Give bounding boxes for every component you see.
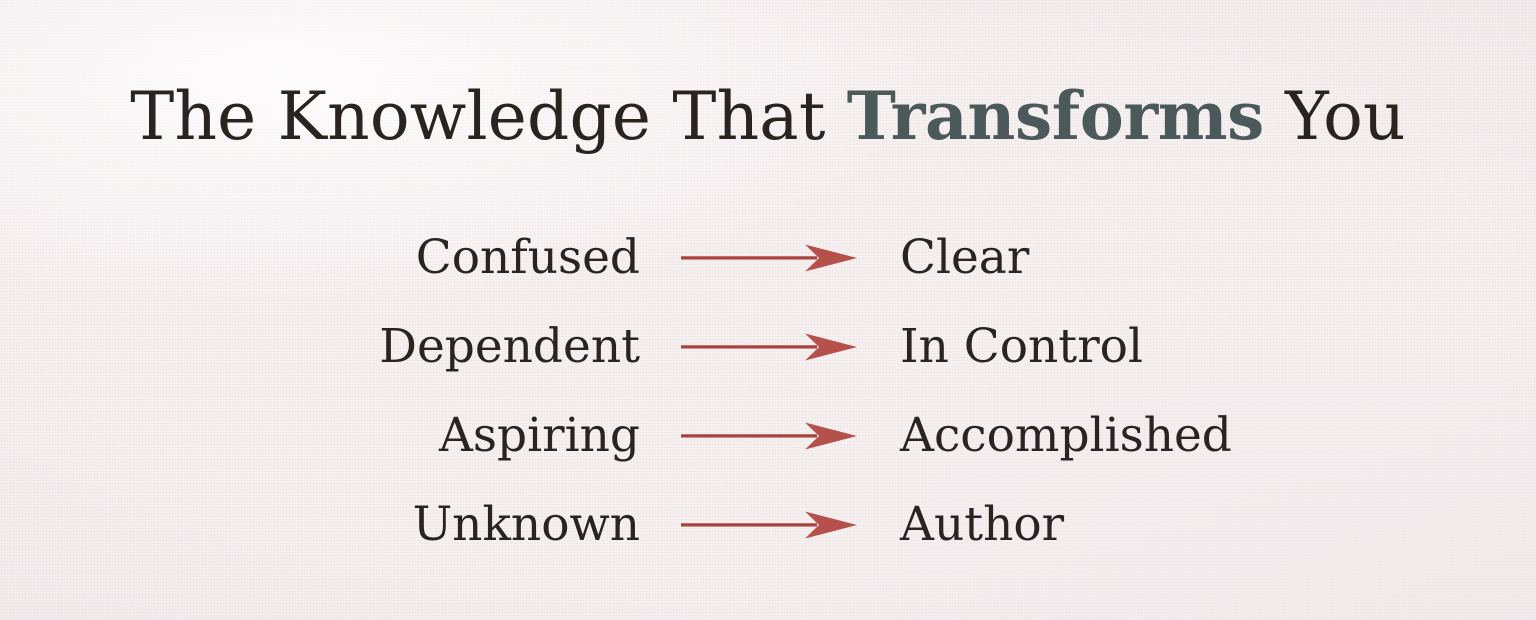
transition-from-label: Unknown (0, 501, 640, 548)
transition-row: Dependent In Control (0, 302, 1536, 391)
right-arrow-icon (681, 421, 859, 451)
transition-arrow (640, 421, 900, 451)
transition-arrow (640, 332, 900, 362)
title-text-after: You (1264, 78, 1406, 155)
transition-to-label: Clear (900, 234, 1536, 281)
right-arrow-icon (681, 510, 859, 540)
title-accent-word: Transforms (847, 77, 1264, 155)
transition-from-label: Dependent (0, 323, 640, 370)
transition-arrow (640, 243, 900, 273)
page-title: The Knowledge That Transforms You (0, 82, 1536, 152)
transition-row: Unknown Author (0, 480, 1536, 569)
transition-row: Confused Clear (0, 213, 1536, 302)
transition-arrow (640, 510, 900, 540)
title-text-before: The Knowledge That (130, 78, 847, 155)
transition-to-label: Accomplished (900, 412, 1536, 459)
right-arrow-icon (681, 243, 859, 273)
slide-canvas: The Knowledge That Transforms You Confus… (0, 0, 1536, 620)
transition-to-label: Author (900, 501, 1536, 548)
transition-to-label: In Control (900, 323, 1536, 370)
transition-list: Confused Clear Dependent In Control (0, 213, 1536, 569)
transition-from-label: Confused (0, 234, 640, 281)
transition-row: Aspiring Accomplished (0, 391, 1536, 480)
transition-from-label: Aspiring (0, 412, 640, 459)
right-arrow-icon (681, 332, 859, 362)
